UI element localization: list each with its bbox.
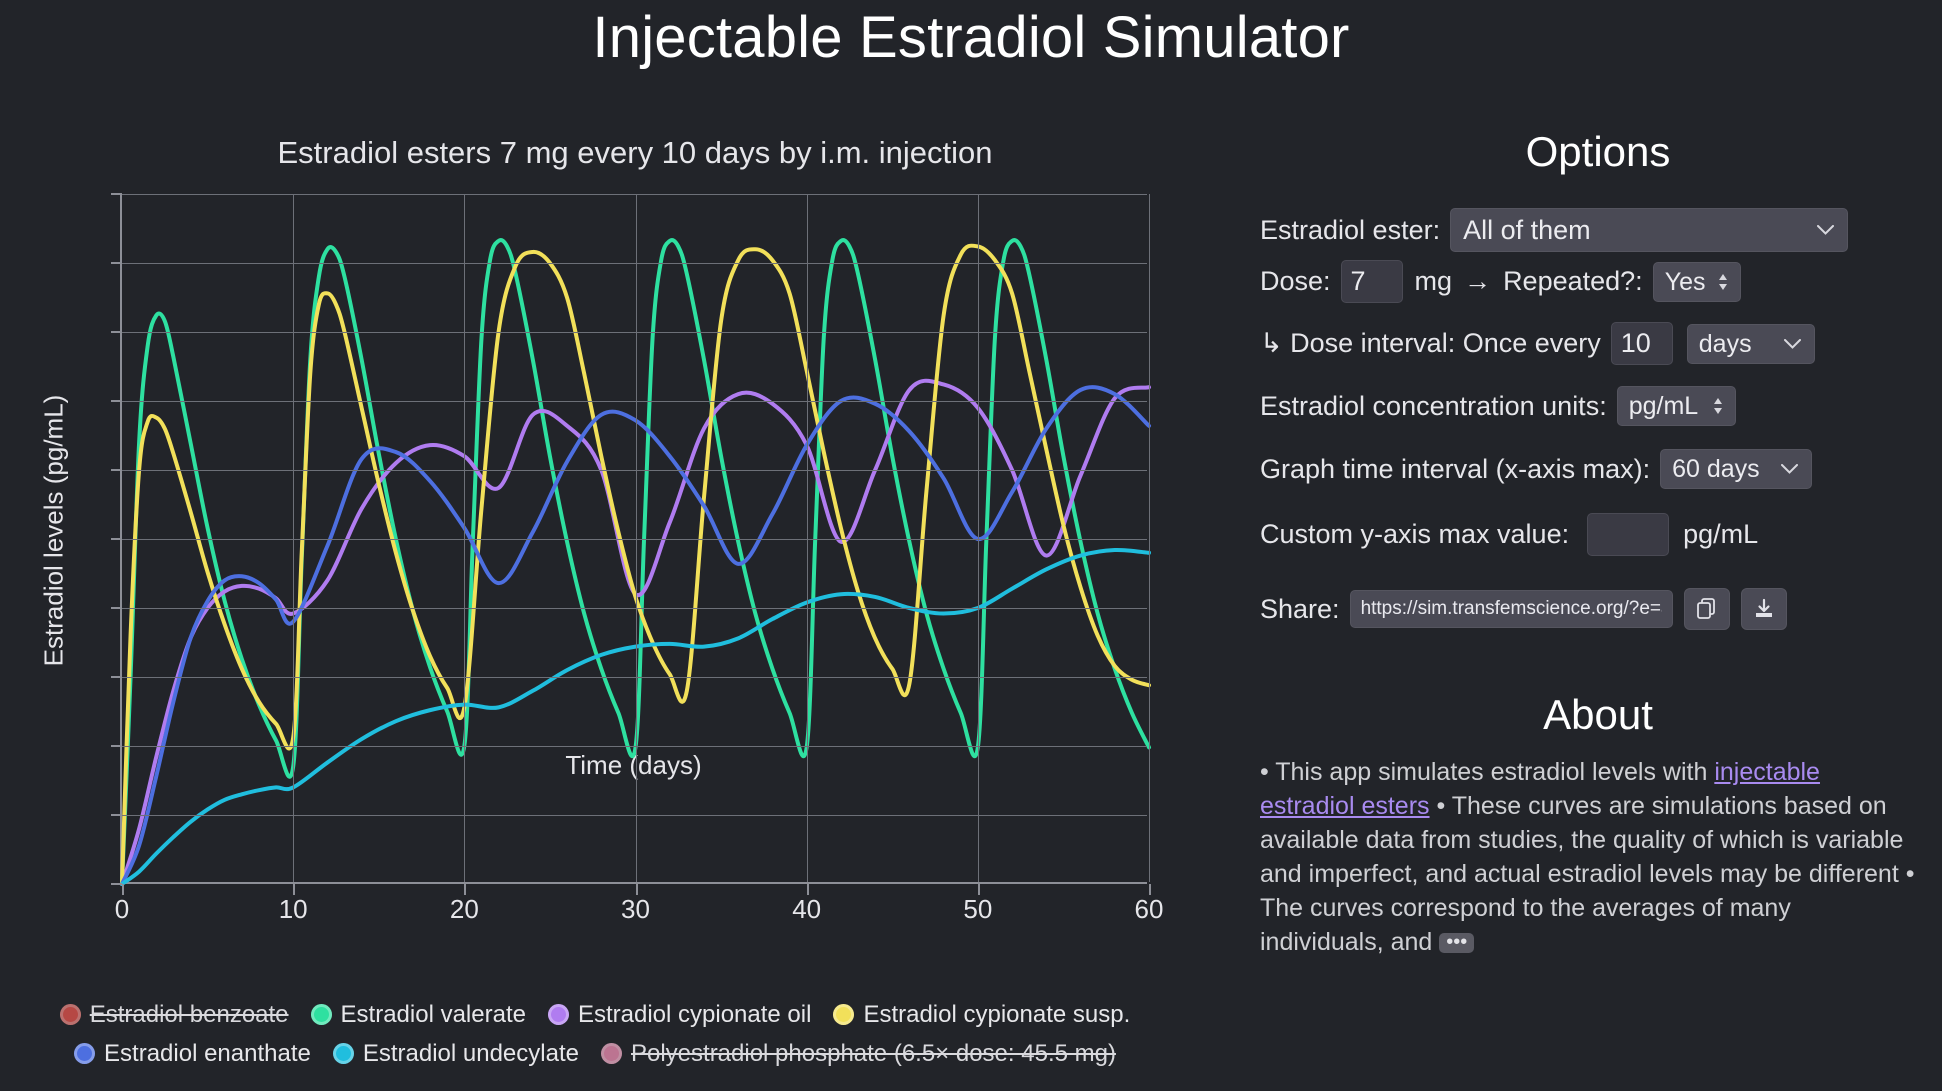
gridline-vertical — [1149, 194, 1150, 882]
legend-item-polyestradiol-phosphate-6-5-dose-45-5-mg[interactable]: Polyestradiol phosphate (6.5× dose: 45.5… — [601, 1040, 1116, 1068]
x-axis-tick-mark — [1149, 884, 1151, 895]
x-axis-tick-mark — [464, 884, 466, 895]
chart-container: Estradiol esters 7 mg every 10 days by i… — [0, 125, 1190, 975]
gridline-horizontal — [122, 332, 1147, 333]
legend-color-dot — [311, 1004, 332, 1025]
legend-color-dot — [548, 1004, 569, 1025]
concentration-units-select[interactable]: pg/mL — [1617, 386, 1736, 426]
legend-row: Estradiol enanthateEstradiol undecylateP… — [0, 1034, 1190, 1073]
y-axis-tick-mark — [111, 400, 122, 402]
app-root: Injectable Estradiol Simulator Estradiol… — [0, 0, 1942, 1091]
legend-color-dot — [601, 1043, 622, 1064]
chart-legend: Estradiol benzoateEstradiol valerateEstr… — [0, 995, 1190, 1073]
gridline-vertical — [807, 194, 808, 882]
x-axis-tick-label: 40 — [762, 894, 852, 925]
x-axis-tick-mark — [807, 884, 809, 895]
gridline-horizontal — [122, 263, 1147, 264]
legend-label: Estradiol enanthate — [104, 1040, 311, 1068]
plot-area: 0501001502002503003504004505000102030405… — [120, 194, 1147, 884]
legend-color-dot — [74, 1043, 95, 1064]
x-axis-tick-mark — [978, 884, 980, 895]
gridline-horizontal — [122, 470, 1147, 471]
x-axis-tick-label: 50 — [933, 894, 1023, 925]
x-axis-tick-label: 20 — [419, 894, 509, 925]
gridline-vertical — [978, 194, 979, 882]
y-axis-tick-mark — [111, 262, 122, 264]
about-heading: About — [1252, 691, 1942, 739]
legend-color-dot — [833, 1004, 854, 1025]
legend-color-dot — [60, 1004, 81, 1025]
y-axis-tick-mark — [111, 331, 122, 333]
legend-color-dot — [333, 1043, 354, 1064]
y-axis-tick-mark — [111, 814, 122, 816]
legend-item-estradiol-undecylate[interactable]: Estradiol undecylate — [333, 1040, 579, 1068]
units-select-wrap[interactable]: pg/mL — [1617, 386, 1736, 426]
gridline-vertical — [636, 194, 637, 882]
legend-label: Estradiol undecylate — [363, 1040, 579, 1068]
interval-unit-select[interactable]: days — [1687, 324, 1815, 364]
chart-title: Estradiol esters 7 mg every 10 days by i… — [120, 135, 1150, 171]
gridline-horizontal — [122, 677, 1147, 678]
dose-unit-label: mg — [1415, 266, 1453, 297]
about-text: • This app simulates estradiol levels wi… — [1260, 755, 1920, 959]
gridline-vertical — [464, 194, 465, 882]
legend-label: Estradiol cypionate oil — [578, 1001, 811, 1029]
legend-item-estradiol-cypionate-oil[interactable]: Estradiol cypionate oil — [548, 1001, 811, 1029]
dose-input[interactable] — [1341, 260, 1403, 303]
legend-item-estradiol-benzoate[interactable]: Estradiol benzoate — [60, 1001, 289, 1029]
concentration-units-label: Estradiol concentration units: — [1260, 391, 1607, 422]
gridline-horizontal — [122, 815, 1147, 816]
repeated-label: Repeated?: — [1503, 266, 1643, 297]
custom-ymax-input[interactable] — [1587, 513, 1669, 556]
y-axis-tick-mark — [111, 883, 122, 885]
ester-select-wrap[interactable]: All of them — [1450, 208, 1848, 252]
x-axis-tick-label: 10 — [248, 894, 338, 925]
arrow-icon: → — [1464, 266, 1491, 297]
dose-label: Dose: — [1260, 266, 1331, 297]
share-url-input[interactable] — [1350, 590, 1673, 628]
option-row-dose: Dose: mg → Repeated?: Yes — [1260, 260, 1741, 303]
y-axis-tick-mark — [111, 469, 122, 471]
option-row-share: Share: — [1260, 588, 1787, 630]
page-title: Injectable Estradiol Simulator — [0, 4, 1942, 71]
gridline-horizontal — [122, 746, 1147, 747]
legend-item-estradiol-valerate[interactable]: Estradiol valerate — [311, 1001, 526, 1029]
y-axis-tick-mark — [111, 745, 122, 747]
gridline-horizontal — [122, 194, 1147, 195]
options-heading: Options — [1252, 128, 1942, 176]
interval-unit-select-wrap[interactable]: days — [1687, 324, 1815, 364]
download-button[interactable] — [1741, 588, 1787, 630]
x-axis-tick-mark — [636, 884, 638, 895]
option-row-units: Estradiol concentration units: pg/mL — [1260, 386, 1736, 426]
option-row-ymax: Custom y-axis max value: pg/mL — [1260, 513, 1758, 556]
option-row-ester: Estradiol ester: All of them — [1260, 208, 1848, 252]
dose-interval-input[interactable] — [1611, 322, 1673, 365]
y-axis-tick-mark — [111, 538, 122, 540]
gridline-horizontal — [122, 608, 1147, 609]
x-axis-tick-mark — [293, 884, 295, 895]
graph-time-interval-label: Graph time interval (x-axis max): — [1260, 454, 1650, 485]
option-row-time-interval: Graph time interval (x-axis max): 60 day… — [1260, 449, 1812, 489]
y-axis-tick-mark — [111, 607, 122, 609]
dose-interval-label: ↳ Dose interval: Once every — [1260, 328, 1601, 359]
share-label: Share: — [1260, 594, 1340, 625]
estradiol-ester-select[interactable]: All of them — [1450, 208, 1848, 252]
x-axis-tick-label: 30 — [591, 894, 681, 925]
copy-link-button[interactable] — [1684, 588, 1730, 630]
gridline-horizontal — [122, 401, 1147, 402]
download-icon — [1752, 597, 1776, 621]
legend-label: Estradiol cypionate susp. — [863, 1001, 1130, 1029]
gridline-vertical — [293, 194, 294, 882]
legend-label: Estradiol benzoate — [90, 1001, 289, 1029]
x-axis-tick-mark — [122, 884, 124, 895]
repeated-select-wrap[interactable]: Yes — [1653, 262, 1741, 302]
legend-row: Estradiol benzoateEstradiol valerateEstr… — [0, 995, 1190, 1034]
legend-item-estradiol-cypionate-susp[interactable]: Estradiol cypionate susp. — [833, 1001, 1130, 1029]
legend-label: Estradiol valerate — [341, 1001, 526, 1029]
graph-time-interval-select[interactable]: 60 days — [1660, 449, 1812, 489]
legend-label: Polyestradiol phosphate (6.5× dose: 45.5… — [631, 1040, 1116, 1068]
copy-icon — [1695, 597, 1719, 621]
repeated-select[interactable]: Yes — [1653, 262, 1741, 302]
x-axis-tick-label: 60 — [1104, 894, 1194, 925]
show-more-button[interactable]: ••• — [1439, 933, 1474, 953]
y-axis-tick-mark — [111, 676, 122, 678]
time-interval-select-wrap[interactable]: 60 days — [1660, 449, 1812, 489]
option-row-interval: ↳ Dose interval: Once every days — [1260, 322, 1815, 365]
ymax-unit-label: pg/mL — [1683, 519, 1758, 550]
about-text-part1: • This app simulates estradiol levels wi… — [1260, 758, 1714, 786]
gridline-horizontal — [122, 539, 1147, 540]
ester-label: Estradiol ester: — [1260, 215, 1440, 246]
legend-item-estradiol-enanthate[interactable]: Estradiol enanthate — [74, 1040, 311, 1068]
x-axis-tick-label: 0 — [77, 894, 167, 925]
chart-y-axis-label: Estradiol levels (pg/mL) — [39, 231, 70, 831]
y-axis-tick-mark — [111, 193, 122, 195]
custom-ymax-label: Custom y-axis max value: — [1260, 519, 1569, 550]
